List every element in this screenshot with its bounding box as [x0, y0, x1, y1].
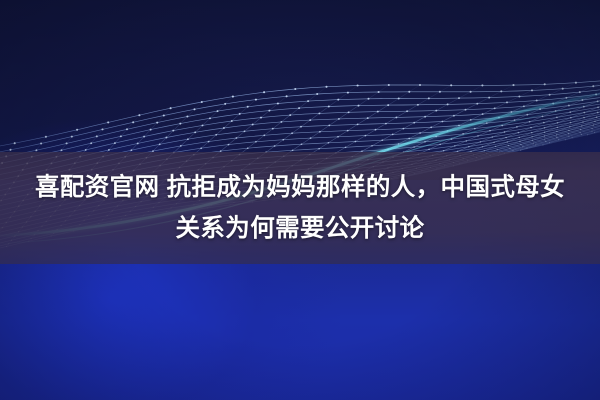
title-line-1: 喜配资官网 抗拒成为妈妈那样的人，中国式母女 [35, 167, 565, 208]
banner-image: 喜配资官网 抗拒成为妈妈那样的人，中国式母女 关系为何需要公开讨论 [0, 0, 600, 400]
title-line-2: 关系为何需要公开讨论 [176, 208, 425, 249]
page-title: 喜配资官网 抗拒成为妈妈那样的人，中国式母女 关系为何需要公开讨论 [0, 152, 600, 264]
